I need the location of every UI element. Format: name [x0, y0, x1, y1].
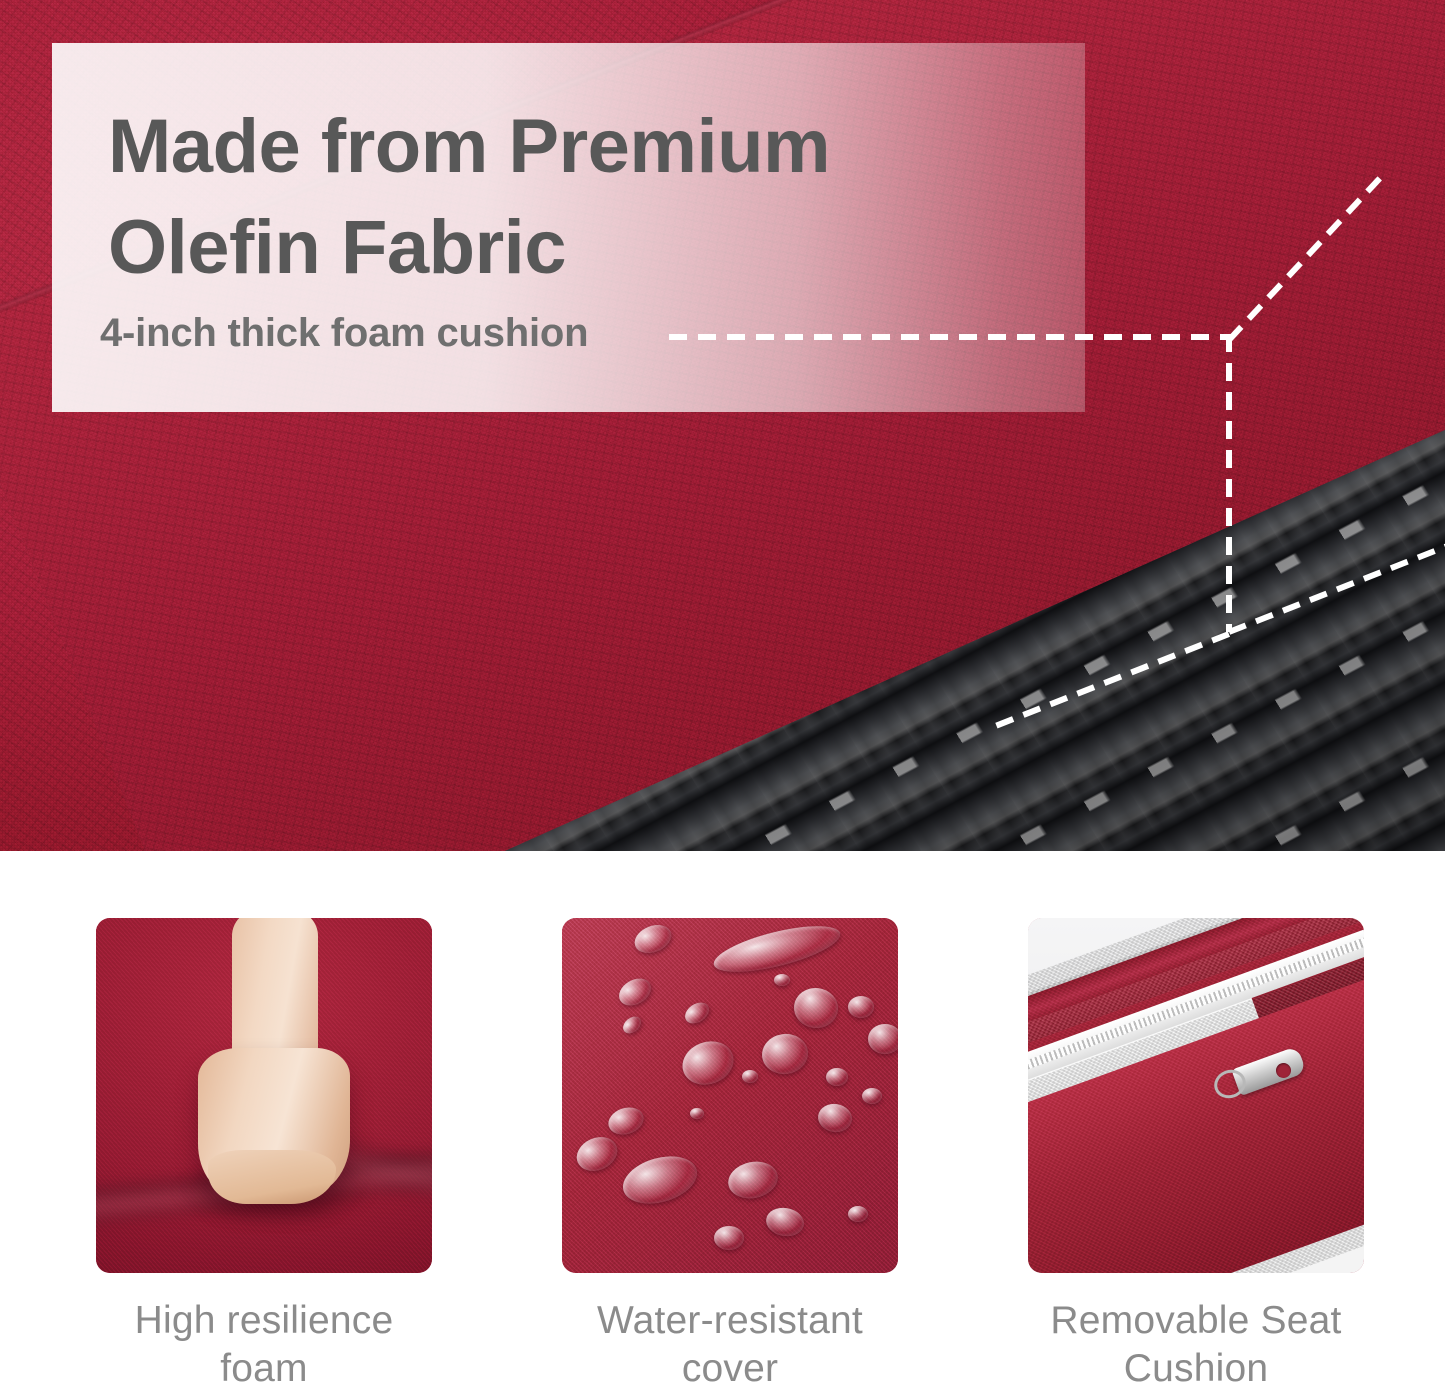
page-title: Made from Premium Olefin Fabric	[108, 96, 1008, 298]
dashed-line-horizontal	[669, 334, 1232, 340]
water-droplet	[742, 1070, 758, 1083]
feature-strip: High resilience foam	[0, 851, 1445, 1387]
water-droplets-photo	[562, 918, 898, 1273]
dashed-line-vertical	[1226, 334, 1232, 632]
water-droplet	[862, 1088, 882, 1104]
foam-press-photo	[96, 918, 432, 1273]
feature-card-list: High resilience foam	[96, 918, 1364, 1392]
feature-card-removable-cushion: Removable Seat Cushion	[1028, 918, 1364, 1392]
water-droplet	[690, 1108, 704, 1119]
feature-caption: Removable Seat Cushion	[1028, 1297, 1364, 1392]
feature-caption: Water-resistant cover	[562, 1297, 898, 1392]
feature-caption: High resilience foam	[96, 1297, 432, 1392]
water-droplet	[774, 974, 790, 986]
feature-card-water-resistant: Water-resistant cover	[562, 918, 898, 1392]
hero-fabric-photo: Made from Premium Olefin Fabric 4-inch t…	[0, 0, 1445, 851]
feature-card-foam: High resilience foam	[96, 918, 432, 1392]
zipper-cushion-photo	[1028, 918, 1364, 1273]
water-droplet	[714, 1226, 744, 1250]
page-subtitle: 4-inch thick foam cushion	[100, 311, 588, 356]
water-droplet	[826, 1068, 848, 1086]
water-droplet	[848, 996, 874, 1018]
knuckles	[208, 1150, 336, 1204]
product-feature-image: Made from Premium Olefin Fabric 4-inch t…	[0, 0, 1445, 1387]
water-droplet	[868, 1024, 898, 1054]
water-droplet	[848, 1206, 868, 1222]
